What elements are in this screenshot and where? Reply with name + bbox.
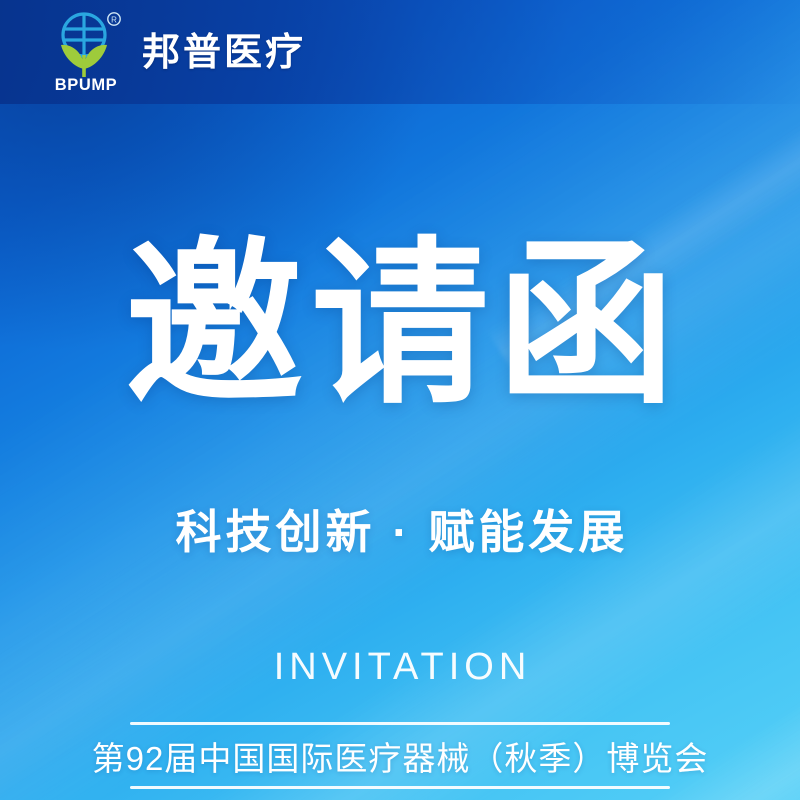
page-title: 邀请函 — [0, 236, 800, 414]
invitation-poster: R BPUMP 邦普医疗 邀请函 科技创新 · 赋能发展 INVITATION … — [0, 0, 800, 800]
registered-mark-icon: R — [108, 13, 120, 25]
subtitle-en: INVITATION — [0, 646, 800, 689]
subtitle-cn: 科技创新 · 赋能发展 — [0, 505, 800, 560]
bpump-wordmark: BPUMP — [55, 76, 118, 93]
divider-bottom — [130, 786, 670, 789]
brand-name-cn: 邦普医疗 — [142, 34, 306, 72]
divider-top — [130, 722, 670, 725]
bpump-logo: R BPUMP — [48, 9, 126, 93]
brand-lockup: R BPUMP 邦普医疗 — [48, 9, 306, 93]
svg-text:R: R — [111, 16, 117, 25]
event-name: 第92届中国国际医疗器械（秋季）博览会 — [0, 738, 800, 781]
